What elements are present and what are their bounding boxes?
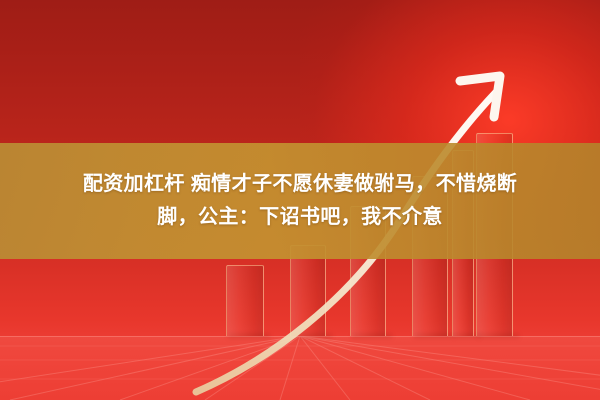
- headline-text: 配资加杠杆 痴情才子不愿休妻做驸马，不惜烧断 脚，公主：下诏书吧，我不介意: [0, 143, 600, 259]
- headline-line-2: 脚，公主：下诏书吧，我不介意: [157, 206, 443, 229]
- bar-1: [226, 265, 264, 336]
- bar-face: [226, 265, 264, 336]
- headline-line-1: 配资加杠杆 痴情才子不愿休妻做驸马，不惜烧断: [83, 173, 517, 196]
- poster-image: 配资加杠杆 痴情才子不愿休妻做驸马，不惜烧断 脚，公主：下诏书吧，我不介意: [0, 0, 600, 400]
